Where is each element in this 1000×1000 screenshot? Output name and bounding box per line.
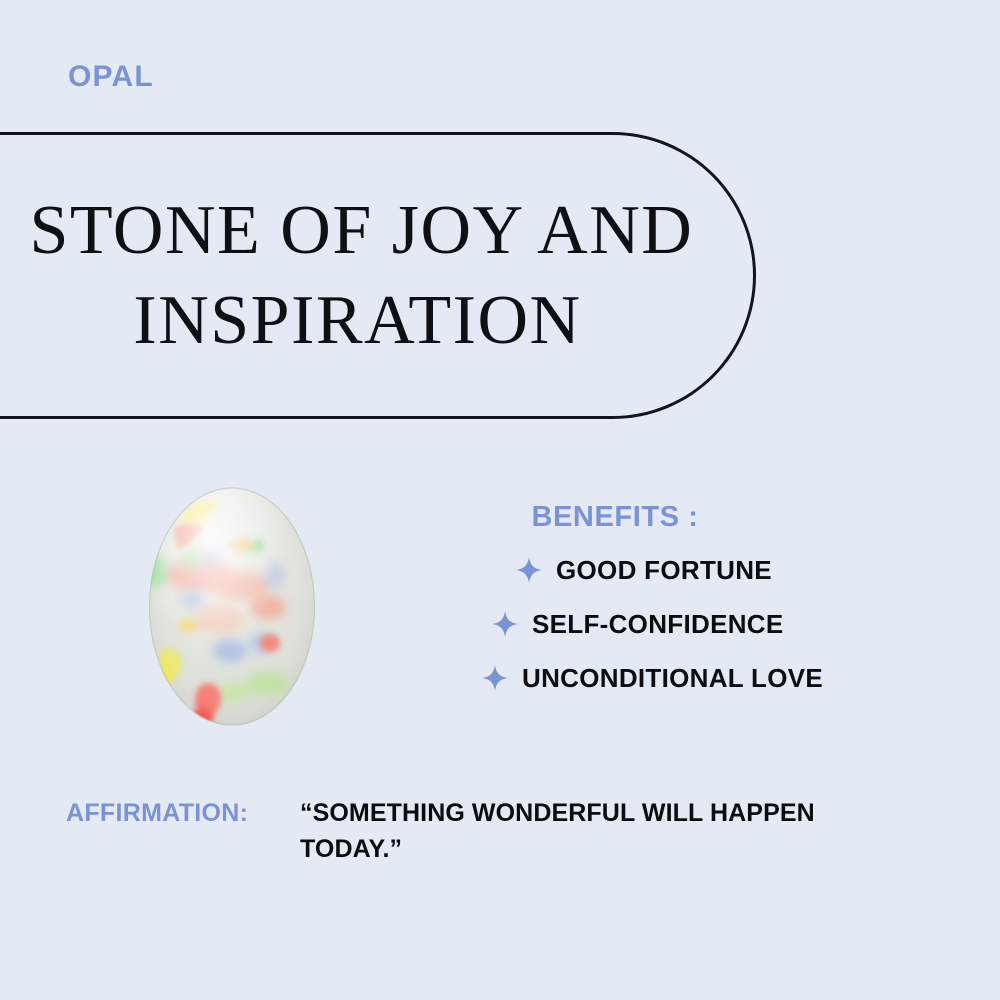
benefit-item: GOOD FORTUNE (516, 554, 920, 586)
title-pill-box: STONE OF JOY AND INSPIRATION (0, 132, 756, 419)
benefit-label: GOOD FORTUNE (556, 557, 772, 583)
benefits-section: BENEFITS : GOOD FORTUNE SELF-CONFIDENCE (470, 503, 920, 716)
sparkle-icon (492, 611, 518, 637)
affirmation-quote: “SOMETHING WONDERFUL WILL HAPPEN TODAY.” (300, 795, 880, 867)
opal-gemstone-image (148, 487, 316, 726)
opal-cabochon-icon (148, 487, 316, 726)
sparkle-icon (482, 665, 508, 691)
benefit-item: UNCONDITIONAL LOVE (482, 662, 920, 694)
page-title-line-1: STONE OF JOY AND (8, 186, 708, 276)
benefit-label: UNCONDITIONAL LOVE (522, 665, 823, 691)
affirmation-label: AFFIRMATION: (66, 795, 248, 831)
affirmation-section: AFFIRMATION: “SOMETHING WONDERFUL WILL H… (66, 795, 926, 867)
title-text-block: STONE OF JOY AND INSPIRATION (8, 186, 708, 365)
benefit-item: SELF-CONFIDENCE (492, 608, 920, 640)
poster-canvas: OPAL STONE OF JOY AND INSPIRATION (0, 0, 1000, 1000)
benefits-heading: BENEFITS : (470, 503, 760, 532)
category-eyebrow: OPAL (68, 62, 154, 92)
benefit-label: SELF-CONFIDENCE (532, 611, 784, 637)
sparkle-icon (516, 557, 542, 583)
page-title-line-2: INSPIRATION (8, 276, 708, 366)
